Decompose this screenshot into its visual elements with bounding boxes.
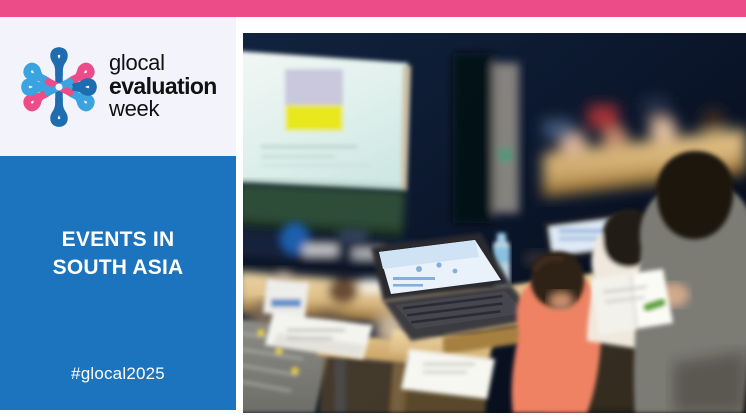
headline-line-1: EVENTS IN [0, 226, 236, 254]
wordmark-line-evaluation: evaluation [109, 75, 217, 98]
wordmark-line-glocal: glocal [109, 52, 217, 74]
brand-logo: glocal evaluation week [16, 42, 217, 132]
brand-wordmark: glocal evaluation week [109, 52, 217, 120]
logo-panel: glocal evaluation week [0, 17, 236, 156]
lecture-hall-photo [243, 33, 746, 413]
promo-panel: EVENTS IN SOUTH ASIA #glocal2025 [0, 156, 236, 410]
glocal-network-logo-icon [16, 42, 102, 132]
top-accent-bar [0, 0, 746, 17]
page-title: EVENTS IN SOUTH ASIA [0, 226, 236, 281]
wordmark-line-week: week [109, 98, 217, 120]
poster-canvas: glocal evaluation week EVENTS IN SOUTH A… [0, 0, 746, 420]
headline-line-2: SOUTH ASIA [0, 254, 236, 282]
hashtag-label: #glocal2025 [0, 364, 236, 384]
